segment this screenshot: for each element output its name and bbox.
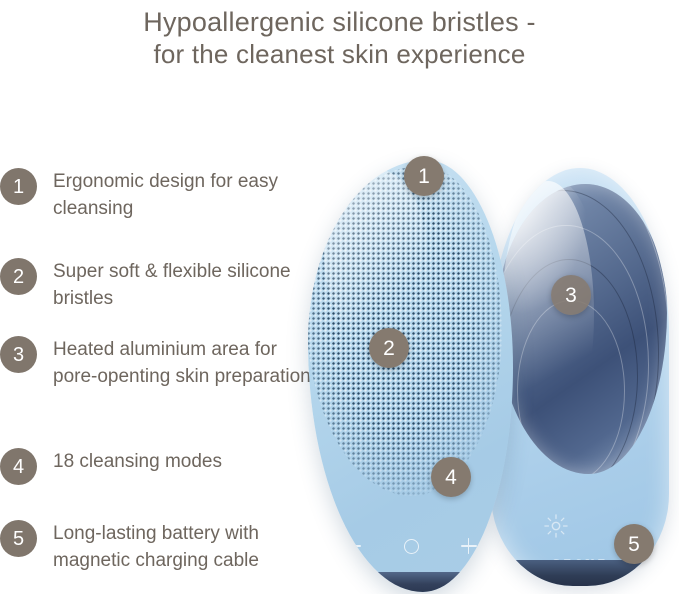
plate-ridge [517, 300, 624, 474]
title-line-2: for the cleanest skin experience [0, 39, 679, 71]
control-panel [308, 538, 513, 554]
feature-text-4: 18 cleansing modes [53, 448, 222, 476]
contact-dot [592, 583, 603, 586]
callout-badge-1: 1 [404, 156, 444, 196]
infographic-canvas: Hypoallergenic silicone bristles - for t… [0, 0, 679, 594]
callout-badge-2: 2 [369, 328, 409, 368]
feature-text-2: Super soft & flexible silicone bristles [53, 258, 321, 313]
callout-badge-4: 4 [431, 457, 471, 497]
list-item: 2 Super soft & flexible silicone bristle… [0, 258, 321, 313]
list-item: 1 Ergonomic design for easy cleansing [0, 168, 321, 223]
page-title: Hypoallergenic silicone bristles - for t… [0, 6, 679, 71]
feature-badge-1: 1 [0, 168, 37, 205]
feature-badge-5: 5 [0, 520, 37, 557]
contact-dot [557, 583, 568, 586]
feature-badge-4: 4 [0, 448, 37, 485]
product-image: GESKE 1 2 3 [296, 120, 679, 594]
feature-badge-3: 3 [0, 336, 37, 373]
minus-icon[interactable] [345, 538, 361, 554]
callout-badge-5: 5 [614, 524, 654, 564]
brush-sheen [324, 169, 427, 342]
list-item: 5 Long-lasting battery with magnetic cha… [0, 520, 321, 575]
plus-icon[interactable] [461, 538, 477, 554]
feature-text-1: Ergonomic design for easy cleansing [53, 168, 321, 223]
device-front-brush [308, 160, 513, 592]
callout-badge-3: 3 [551, 275, 591, 315]
title-line-1: Hypoallergenic silicone bristles - [0, 6, 679, 39]
sun-heat-icon [543, 513, 569, 539]
charging-contacts [491, 583, 669, 586]
power-circle-icon[interactable] [403, 538, 419, 554]
feature-text-5: Long-lasting battery with magnetic charg… [53, 520, 321, 575]
feature-text-3: Heated aluminium area for pore-openting … [53, 336, 321, 391]
device-rear-body: GESKE [491, 168, 669, 586]
heated-aluminium-plate [497, 184, 667, 474]
feature-badge-2: 2 [0, 258, 37, 295]
list-item: 3 Heated aluminium area for pore-opentin… [0, 336, 321, 391]
list-item: 4 18 cleansing modes [0, 448, 222, 485]
